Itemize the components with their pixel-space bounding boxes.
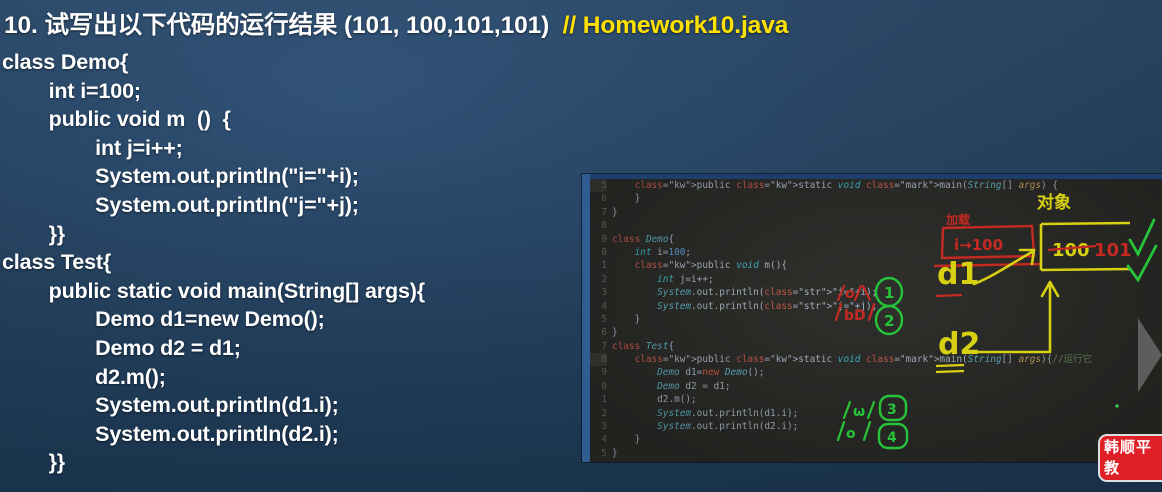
watermark-line1: 韩顺平 [1104, 437, 1162, 458]
ide-line-number: 0 [590, 380, 607, 393]
ide-line-text: class Demo{ [612, 233, 674, 246]
slide-code-line: class Test{ [2, 251, 111, 273]
ide-code-row: 8 [590, 219, 1162, 232]
ide-code-row: 0 Demo d2 = d1; [590, 380, 1162, 393]
ide-code-row: 3 System.out.println(d2.i); [590, 420, 1162, 433]
next-arrow-icon[interactable] [1136, 318, 1162, 392]
ide-line-text: System.out.println(class="str">"j="+j); [612, 300, 877, 313]
ide-code-row: 1 class="kw">public void m(){ [590, 259, 1162, 272]
watermark-line2: 教 育 [1104, 458, 1162, 480]
ide-code-row: 7class Test{ [590, 340, 1162, 353]
ide-line-number: 1 [590, 393, 607, 406]
slide-code-line: System.out.println("i="+i); [2, 165, 359, 187]
ide-code-row: 2 int j=i++; [590, 273, 1162, 286]
slide-code-line: System.out.println("j="+j); [2, 194, 359, 216]
ide-code-row: 5 } [590, 313, 1162, 326]
ide-line-number: 3 [590, 286, 607, 299]
slide-code-line: int i=100; [2, 80, 141, 102]
ide-line-number: 8 [590, 219, 607, 232]
ide-code-row: 5} [590, 447, 1162, 460]
watermark-logo: 韩顺平 教 育 [1100, 436, 1162, 480]
ide-line-number: 7 [590, 340, 607, 353]
ide-line-text: int i=100; [612, 246, 691, 259]
slide-code-line: System.out.println(d2.i); [2, 423, 339, 445]
video-panel-left-strip [582, 174, 590, 462]
ide-line-text: System.out.println(class="str">"i="+i); [612, 286, 877, 299]
ide-line-text: } [612, 447, 618, 460]
slide-code-line: Demo d2 = d1; [2, 337, 241, 359]
ide-code-row: 7} [590, 206, 1162, 219]
ide-line-number: 7 [590, 206, 607, 219]
ide-line-number: 9 [590, 366, 607, 379]
ide-line-text: } [612, 206, 618, 219]
ide-line-text: d2.m(); [612, 393, 697, 406]
slide-title: 10. 试写出以下代码的运行结果 (101, 100,101,101) // H… [4, 12, 788, 40]
ide-line-number: 9 [590, 233, 607, 246]
slide-code-line: d2.m(); [2, 366, 166, 388]
slide-code-line: public void m () { [2, 108, 231, 130]
ide-editor[interactable]: 5 class="kw">public class="kw">static vo… [590, 179, 1162, 462]
ide-line-number: 2 [590, 407, 607, 420]
ide-line-text: class="kw">public void m(){ [612, 259, 787, 272]
ide-line-text: System.out.println(d1.i); [612, 407, 798, 420]
ide-line-number: 6 [590, 192, 607, 205]
slide-code-line: System.out.println(d1.i); [2, 394, 339, 416]
ide-code-row: 6} [590, 326, 1162, 339]
ide-line-number: 4 [590, 433, 607, 446]
ide-line-number: 0 [590, 246, 607, 259]
ide-line-number: 8 [590, 353, 607, 366]
ide-line-text: class="kw">public class="kw">static void… [612, 353, 1092, 366]
ide-line-number: 5 [590, 447, 607, 460]
ide-line-text: } [612, 433, 640, 446]
ide-code-row: 9 Demo d1=new Demo(); [590, 366, 1162, 379]
ide-line-text: class="kw">public class="kw">static void… [612, 179, 1058, 192]
ide-code-row: 9class Demo{ [590, 233, 1162, 246]
ide-line-text: class Test{ [612, 340, 674, 353]
ide-line-text: Demo d2 = d1; [612, 380, 731, 393]
video-panel[interactable]: 5 class="kw">public class="kw">static vo… [582, 174, 1162, 462]
ide-code-row: 4 } [590, 433, 1162, 446]
ide-line-text: } [612, 192, 640, 205]
slide-code-line: int j=i++; [2, 137, 183, 159]
slide-code-line: }} [2, 451, 65, 473]
slide-code-line: class Demo{ [2, 51, 128, 73]
ide-line-text: int j=i++; [612, 273, 714, 286]
ide-line-number: 5 [590, 179, 607, 192]
ide-line-text: } [612, 326, 618, 339]
ide-code-row: 2 System.out.println(d1.i); [590, 407, 1162, 420]
ide-line-text: Demo d1=new Demo(); [612, 366, 764, 379]
slide-code-line: }} [2, 223, 65, 245]
ide-line-number: 3 [590, 420, 607, 433]
screenshot-root: 10. 试写出以下代码的运行结果 (101, 100,101,101) // H… [0, 0, 1162, 492]
ide-code-row: 6 } [590, 192, 1162, 205]
ide-line-text: } [612, 313, 640, 326]
ide-line-text: System.out.println(d2.i); [612, 420, 798, 433]
slide-code-line: public static void main(String[] args){ [2, 280, 425, 302]
ide-code-row: 8 class="kw">public class="kw">static vo… [590, 353, 1162, 366]
ide-line-number: 5 [590, 313, 607, 326]
ide-line-number: 6 [590, 326, 607, 339]
slide-title-filename: // Homework10.java [563, 12, 789, 39]
ide-code-row: 3 System.out.println(class="str">"i="+i)… [590, 286, 1162, 299]
ide-code-row: 4 System.out.println(class="str">"j="+j)… [590, 300, 1162, 313]
ide-line-number: 4 [590, 300, 607, 313]
slide-title-prefix: 10. 试写出以下代码的运行结果 (101, 100,101,101) [4, 12, 563, 39]
ide-line-number: 1 [590, 259, 607, 272]
slide-code-line: Demo d1=new Demo(); [2, 308, 325, 330]
ide-line-number: 2 [590, 273, 607, 286]
ide-code-row: 5 class="kw">public class="kw">static vo… [590, 179, 1162, 192]
ide-code-row: 1 d2.m(); [590, 393, 1162, 406]
ide-code-row: 0 int i=100; [590, 246, 1162, 259]
